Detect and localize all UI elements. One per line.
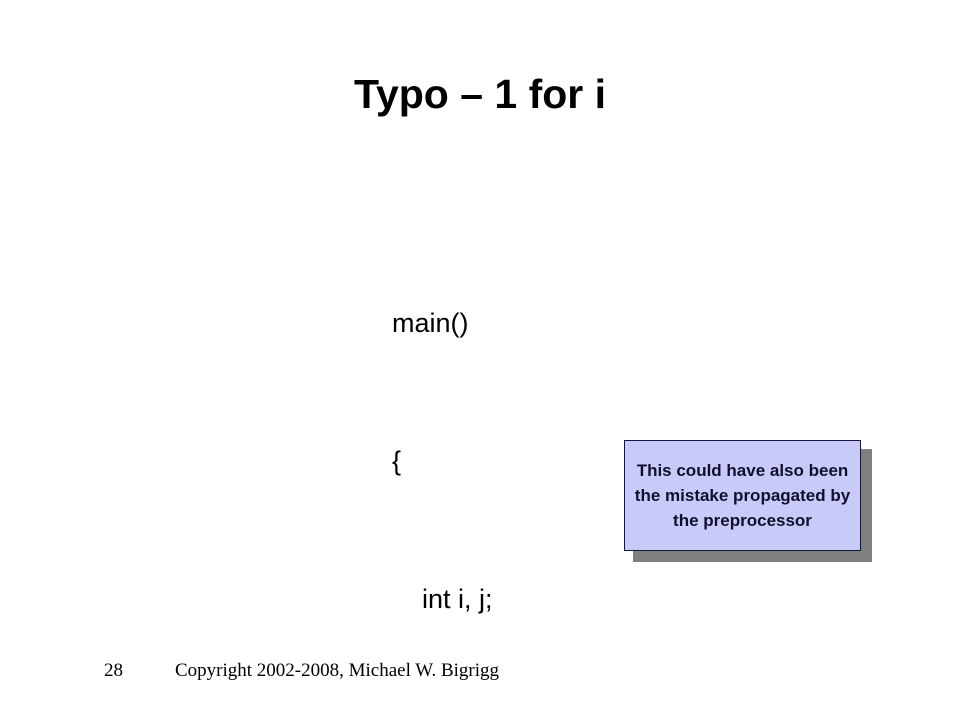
slide-number: 28 bbox=[104, 660, 123, 682]
page-title: Typo – 1 for i bbox=[0, 70, 960, 118]
code-line: main() bbox=[392, 300, 505, 346]
copyright-notice: Copyright 2002-2008, Michael W. Bigrigg bbox=[175, 660, 499, 682]
callout-box: This could have also been the mistake pr… bbox=[624, 440, 861, 551]
slide-canvas: Typo – 1 for i main() { int i, j; 1 = 10… bbox=[0, 0, 960, 720]
callout-text: This could have also been the mistake pr… bbox=[625, 458, 860, 533]
code-line: { bbox=[392, 438, 505, 484]
slide-footer: 28 Copyright 2002-2008, Michael W. Bigri… bbox=[0, 660, 960, 690]
code-line-blank bbox=[392, 714, 505, 720]
code-block: main() { int i, j; 1 = 10; j = 2; } bbox=[392, 208, 505, 720]
code-line: int i, j; bbox=[392, 576, 505, 622]
callout-annotation: This could have also been the mistake pr… bbox=[624, 440, 872, 562]
